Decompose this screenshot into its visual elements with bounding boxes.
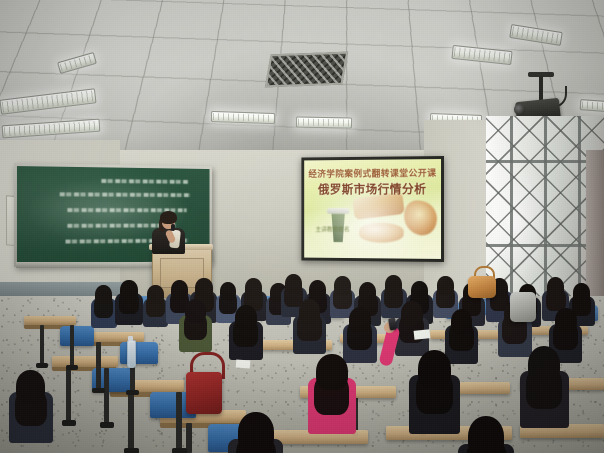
audience-hair — [285, 274, 302, 294]
classroom-photo: 经济学院案例式翻转课堂公开课 俄罗斯市场行情分析 主讲教师姓名 — [0, 0, 604, 453]
audience-hair — [573, 283, 590, 303]
audience-hair — [220, 282, 236, 301]
audience-hair — [401, 301, 423, 326]
audience-hair — [238, 412, 274, 453]
bottle-cap — [128, 336, 133, 341]
audience-hair — [468, 416, 505, 453]
audience-hair — [120, 280, 138, 301]
audience-hair — [334, 276, 351, 295]
audience-hair — [411, 281, 428, 301]
audience-hair — [385, 275, 402, 295]
audience-hair — [309, 280, 326, 300]
tan-handbag — [468, 276, 496, 298]
audience-hair — [95, 285, 112, 305]
audience-hair — [316, 354, 347, 390]
audience-hair — [185, 299, 206, 323]
audience-hair — [359, 282, 377, 302]
audience-hair — [349, 307, 371, 333]
audience-hair — [528, 346, 560, 383]
audience-hair — [547, 277, 565, 297]
audience-hair — [195, 278, 213, 298]
paper-sheet — [236, 360, 251, 369]
audience-hair — [245, 278, 262, 298]
water-bottle — [127, 340, 136, 368]
audience-hair — [299, 299, 321, 324]
audience-hair — [235, 305, 257, 330]
audience-hair — [451, 309, 473, 334]
audience-hair — [147, 285, 164, 304]
red-handbag — [186, 372, 222, 414]
audience-hair — [418, 350, 451, 388]
paper-sheet — [414, 329, 431, 340]
audience-layer — [0, 0, 604, 453]
audience-hair — [555, 308, 577, 333]
gray-handbag — [510, 292, 536, 322]
audience-hair — [437, 276, 454, 295]
audience-hair — [16, 370, 45, 403]
audience-hair — [171, 280, 188, 300]
